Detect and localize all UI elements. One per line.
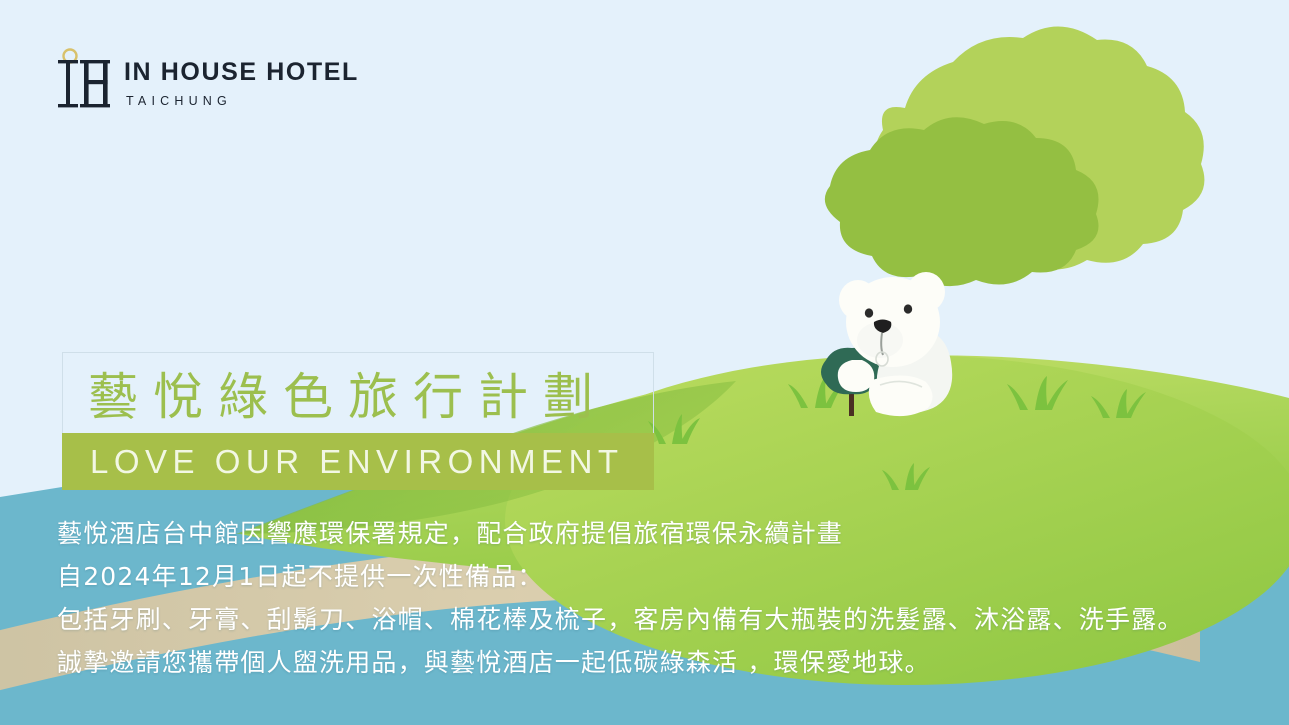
body-line-1: 藝悅酒店台中館因響應環保署規定，配合政府提倡旅宿環保永續計畫 bbox=[57, 512, 1184, 555]
title-chinese: 藝悅綠色旅行計劃 bbox=[62, 352, 656, 427]
title-english: LOVE OUR ENVIRONMENT bbox=[62, 433, 654, 490]
body-line-3: 包括牙刷、牙膏、刮鬍刀、浴帽、棉花棒及梳子，客房內備有大瓶裝的洗髮露、沐浴露、洗… bbox=[57, 598, 1184, 641]
body-line-2: 自2024年12月1日起不提供一次性備品： bbox=[57, 555, 1184, 598]
logo-location: TAICHUNG bbox=[124, 94, 359, 108]
brand-logo[interactable]: IN HOUSE HOTEL TAICHUNG bbox=[52, 48, 359, 110]
logo-brand-name: IN HOUSE HOTEL bbox=[124, 60, 359, 85]
poster-canvas: IN HOUSE HOTEL TAICHUNG 藝悅綠色旅行計劃 LOVE OU… bbox=[0, 0, 1289, 725]
body-copy: 藝悅酒店台中館因響應環保署規定，配合政府提倡旅宿環保永續計畫 自2024年12月… bbox=[57, 512, 1184, 684]
body-line-4: 誠摯邀請您攜帶個人盥洗用品，與藝悅酒店一起低碳綠森活 ，環保愛地球。 bbox=[57, 641, 1184, 684]
bear-eye-right bbox=[904, 304, 912, 313]
bear-arm-left bbox=[838, 360, 874, 392]
bear-eye-left bbox=[865, 308, 873, 317]
logo-monogram-ih bbox=[52, 48, 110, 110]
logo-wordmark: IN HOUSE HOTEL TAICHUNG bbox=[124, 60, 359, 110]
title-block: 藝悅綠色旅行計劃 LOVE OUR ENVIRONMENT bbox=[62, 352, 656, 427]
